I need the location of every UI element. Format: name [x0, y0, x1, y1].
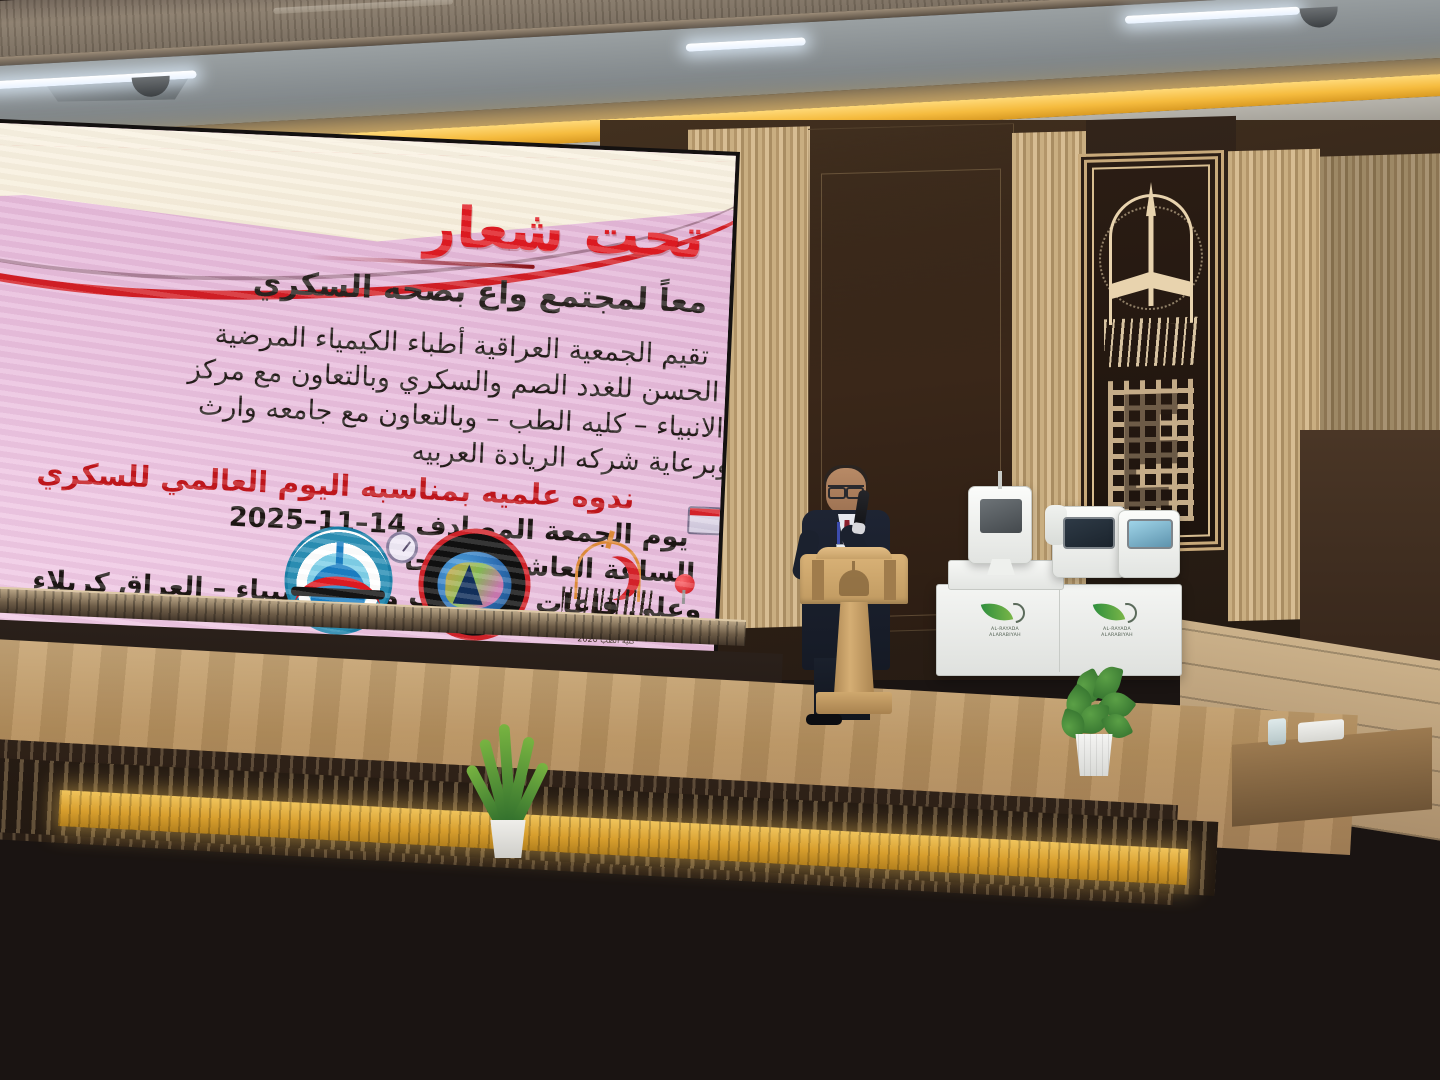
lab-analyzer-tall [968, 486, 1032, 564]
analyzer-probe [998, 471, 1002, 489]
lab-analyzer-center [1052, 506, 1126, 578]
lab-analyzer-right [1118, 510, 1180, 578]
conference-hall-photo: AL-RAYADA ALARABIYAH COMPANY growing our… [0, 0, 1440, 1080]
cabinet-logo: AL-RAYADA ALARABIYAH [1089, 601, 1145, 647]
cabinet-logo: AL-RAYADA ALARABIYAH [977, 601, 1033, 647]
kufic-calligraphy [1108, 379, 1194, 523]
calendar-icon [687, 506, 722, 535]
sample-slot [987, 559, 1015, 575]
projection-screen: AL-RAYADA ALARABIYAH COMPANY growing our… [0, 110, 740, 671]
water-glass [1268, 718, 1286, 746]
equipment-cabinet: AL-RAYADA ALARABIYAH AL-RAYADA ALARABIYA… [936, 584, 1182, 676]
presentation-slide: AL-RAYADA ALARABIYAH COMPANY growing our… [0, 114, 736, 667]
wooden-podium [800, 554, 908, 720]
wall-slat-panel [1320, 153, 1440, 456]
potted-plant [1046, 664, 1142, 774]
podium-side-inlay [812, 560, 824, 600]
shrine-emblem-icon [839, 570, 869, 596]
cabinet-logo-text: AL-RAYADA ALARABIYAH [1089, 627, 1145, 639]
emblem-border [1092, 164, 1210, 539]
tissue-box [1298, 719, 1344, 743]
podium-base [816, 692, 892, 714]
display-panel [980, 499, 1022, 533]
green-leaf-icon [1093, 598, 1125, 626]
podium-stem [834, 602, 874, 694]
university-emblem-panel [1078, 150, 1224, 554]
flask-icon [453, 563, 485, 604]
touch-screen [1063, 517, 1115, 549]
podium-top [800, 554, 908, 604]
slide-slogan-label: تحت شعار [423, 194, 706, 271]
cabinet-seam [1059, 588, 1060, 672]
emblem-arabic-name [1104, 317, 1198, 368]
green-leaf-icon [981, 598, 1013, 626]
podium-side-inlay [884, 560, 896, 600]
screen-frame: AL-RAYADA ALARABIYAH COMPANY growing our… [0, 110, 740, 671]
location-pin-icon [674, 574, 695, 595]
audience-seating [0, 760, 1440, 1080]
touch-screen [1127, 519, 1173, 549]
cabinet-logo-text: AL-RAYADA ALARABIYAH [977, 627, 1033, 639]
